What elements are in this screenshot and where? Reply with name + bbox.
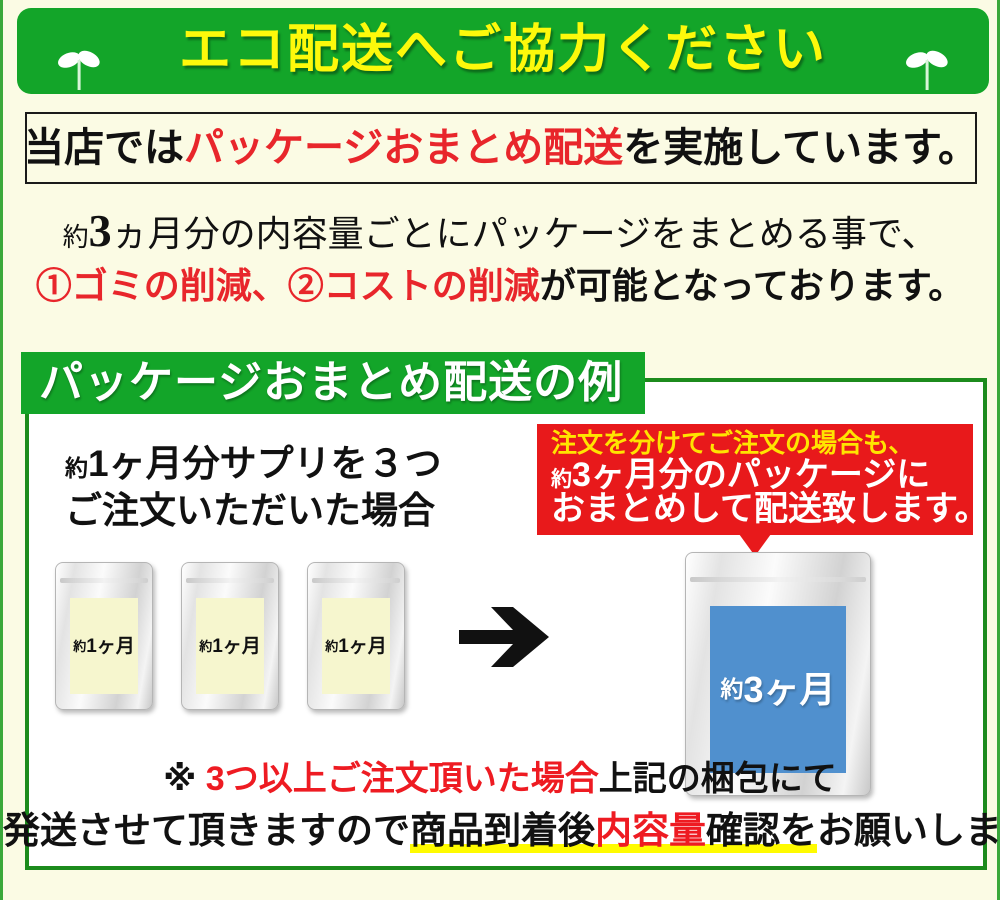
pouch-label-text: 1ヶ月 (212, 637, 261, 656)
note-mark-icon: ※ (163, 760, 196, 798)
pouch-label: 約3ヶ月 (710, 606, 846, 773)
footer-note-line-1: ※ 3つ以上ご注文頂いた場合上記の梱包にて (3, 762, 997, 796)
example-case-caption-line-1-text: 1ヶ月分サプリを３つ (88, 443, 442, 484)
lead-prefix: 当店では (24, 125, 184, 170)
lead-highlight: パッケージおまとめ配送 (184, 125, 623, 170)
shipping-callout: 注文を分けてご注文の場合も、 約3ヶ月分のパッケージに おまとめして配送致します… (537, 424, 973, 535)
paragraph-line-2-rest: が可能となっております。 (540, 266, 964, 306)
paragraph-line-2: ①ゴミの削減、②コストの削減が可能となっております。 (3, 268, 997, 304)
paragraph-line-1-rest: ヵ月分の内容量ごとにパッケージをまとめる事で、 (112, 214, 938, 254)
footer-note-line-2-b: お願いします。 (817, 810, 1000, 851)
pouch-label: 約1ヶ月 (70, 598, 138, 694)
footer-note-line-1-rest: 上記の梱包にて (599, 760, 837, 798)
paragraph-approx: 約 (63, 223, 89, 252)
banner-title: エコ配送へご協力ください (17, 25, 989, 77)
paragraph-line-1: 約3ヵ月分の内容量ごとにパッケージをまとめる事で、 (3, 208, 997, 254)
pouch-label-approx: 約 (73, 640, 86, 653)
header-banner: エコ配送へご協力ください (17, 8, 989, 94)
page-root: エコ配送へご協力ください 当店ではパッケージおまとめ配送を実施しています。 約3… (0, 0, 1000, 900)
pouch-label-approx: 約 (199, 640, 212, 653)
pouch-label: 約1ヶ月 (322, 598, 390, 694)
footer-note-line-2: 発送させて頂きますので商品到着後内容量確認をお願いします。 (3, 812, 997, 849)
shipping-callout-line-2-text: 3ヶ月分のパッケージに (572, 456, 930, 494)
shipping-callout-line-2: 約3ヶ月分のパッケージに (551, 458, 963, 493)
shipping-callout-line-1: 注文を分けてご注文の場合も、 (551, 430, 963, 457)
footer-note-condition: 3つ以上ご注文頂いた場合 (206, 760, 599, 798)
right-arrow-icon (455, 600, 555, 674)
lead-sentence: 当店ではパッケージおまとめ配送を実施しています。 (24, 128, 978, 168)
example-case-caption: 約1ヶ月分サプリを３つ ご注文いただいた場合 (65, 440, 442, 535)
footer-note-line-2-a: 発送させて頂きますので (3, 810, 410, 851)
pouch-one-month: 約1ヶ月 (181, 562, 279, 710)
footer-note-ul-a: 商品到着後 (410, 810, 595, 851)
pouch-one-month: 約1ヶ月 (55, 562, 153, 710)
example-section-title: パッケージおまとめ配送の例 (39, 361, 623, 405)
footer-note-highlighted: 商品到着後内容量確認を (410, 810, 817, 853)
footer-note-ul-red: 内容量 (595, 810, 706, 851)
footer-note-ul-b: 確認を (706, 810, 817, 851)
pouch-label: 約1ヶ月 (196, 598, 264, 694)
pouch-label-text: 1ヶ月 (86, 637, 135, 656)
pouch-label-approx: 約 (720, 678, 743, 701)
example-case-caption-line-1: 約1ヶ月分サプリを３つ (65, 440, 442, 487)
example-section-tab: パッケージおまとめ配送の例 (21, 352, 645, 414)
lead-suffix: を実施しています。 (623, 125, 978, 170)
pouch-label-text: 3ヶ月 (743, 672, 835, 708)
lead-sentence-box: 当店ではパッケージおまとめ配送を実施しています。 (25, 112, 977, 184)
pouch-label-text: 1ヶ月 (338, 637, 387, 656)
pouch-one-month: 約1ヶ月 (307, 562, 405, 710)
sprout-icon (901, 40, 953, 92)
example-case-caption-line-2: ご注文いただいた場合 (65, 487, 442, 534)
shipping-callout-line-3: おまとめして配送致します。 (551, 492, 963, 527)
shipping-callout-approx: 約 (551, 468, 572, 491)
pouch-label-approx: 約 (325, 640, 338, 653)
example-case-approx: 約 (65, 455, 88, 481)
paragraph-months-number: 3 (89, 205, 112, 256)
paragraph-benefits: ①ゴミの削減、②コストの削減 (36, 266, 540, 306)
